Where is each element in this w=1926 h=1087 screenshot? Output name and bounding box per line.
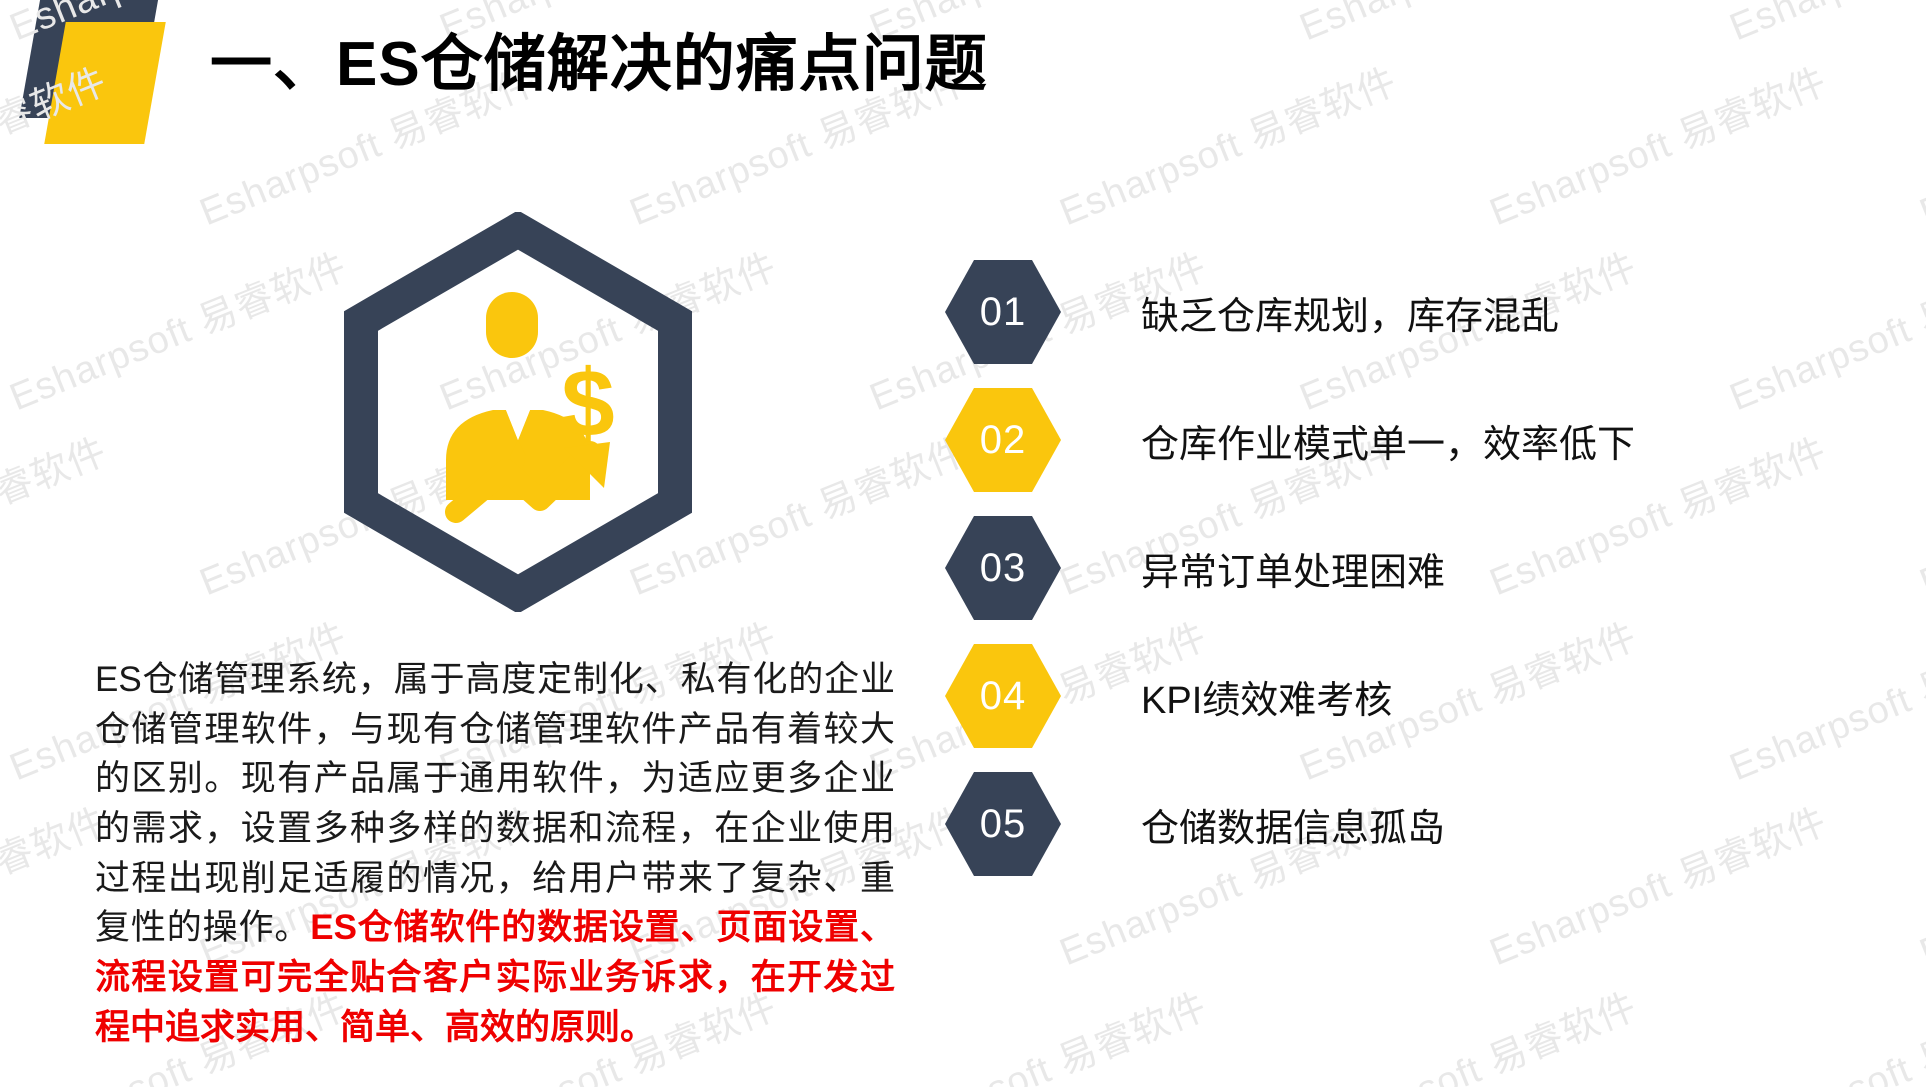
painpoint-label-04: KPI绩效难考核 xyxy=(1141,669,1392,724)
painpoint-hexagon-01: 01 xyxy=(945,260,1061,364)
painpoint-hexagon-04: 04 xyxy=(945,644,1061,748)
emblem-hexagon-icon: $ xyxy=(318,212,718,612)
person-head-icon xyxy=(486,292,538,358)
painpoint-label-01: 缺乏仓库规划，库存混乱 xyxy=(1141,285,1559,340)
watermark-text: Esharpsoft 易睿软件 xyxy=(1910,790,1926,976)
watermark-text: Esharpsoft 易睿软件 xyxy=(0,420,114,606)
watermark-text: Esharpsoft 易睿软件 xyxy=(860,975,1214,1087)
watermark-text: Esharpsoft 易睿软件 xyxy=(1480,50,1834,236)
businessman-dollar-growth-icon: $ xyxy=(318,212,718,612)
painpoint-hexagon-03: 03 xyxy=(945,516,1061,620)
page-title: 一、ES仓储解决的痛点问题 xyxy=(210,32,988,97)
watermark-text: Esharpsoft 易睿软件 xyxy=(1290,975,1644,1087)
painpoint-item-01[interactable]: 01 缺乏仓库规划，库存混乱 xyxy=(945,260,1845,364)
painpoint-hexagon-05: 05 xyxy=(945,772,1061,876)
yellow-parallelogram-decoration xyxy=(44,22,166,144)
intro-plain-text: ES仓储管理系统，属于高度定制化、私有化的企业仓储管理软件，与现有仓储管理软件产… xyxy=(95,660,895,947)
painpoint-number-04: 04 xyxy=(980,674,1027,719)
painpoint-number-02: 02 xyxy=(980,418,1027,463)
painpoint-number-05: 05 xyxy=(980,802,1027,847)
painpoint-list: 01 缺乏仓库规划，库存混乱 02 仓库作业模式单一，效率低下 03 异常订单处… xyxy=(945,260,1845,900)
intro-paragraph: ES仓储管理系统，属于高度定制化、私有化的企业仓储管理软件，与现有仓储管理软件产… xyxy=(95,655,895,1053)
watermark-text: Esharpsoft 易睿软件 xyxy=(1910,420,1926,606)
painpoint-number-03: 03 xyxy=(980,546,1027,591)
dollar-sign-icon: $ xyxy=(561,350,614,457)
painpoint-label-02: 仓库作业模式单一，效率低下 xyxy=(1141,413,1635,468)
watermark-text: Esharpsoft 易睿软件 xyxy=(1290,0,1644,51)
watermark-text: Esharpsoft 易睿软件 xyxy=(1050,50,1404,236)
watermark-text: Esharpsoft 易睿软件 xyxy=(0,235,354,421)
painpoint-item-02[interactable]: 02 仓库作业模式单一，效率低下 xyxy=(945,388,1845,492)
painpoint-item-04[interactable]: 04 KPI绩效难考核 xyxy=(945,644,1845,748)
watermark-text: Esharpsoft 易睿软件 xyxy=(1720,0,1926,51)
painpoint-hexagon-02: 02 xyxy=(945,388,1061,492)
watermark-text: Esharpsoft 易睿软件 xyxy=(1910,50,1926,236)
painpoint-item-05[interactable]: 05 仓储数据信息孤岛 xyxy=(945,772,1845,876)
watermark-text: Esharpsoft 易睿软件 xyxy=(1720,975,1926,1087)
painpoint-number-01: 01 xyxy=(980,290,1027,335)
slide-canvas: 一、ES仓储解决的痛点问题 $ ES仓储管理系统，属于高度定制化、私有化的企业仓… xyxy=(0,0,1926,1087)
painpoint-item-03[interactable]: 03 异常订单处理困难 xyxy=(945,516,1845,620)
painpoint-label-03: 异常订单处理困难 xyxy=(1141,541,1445,596)
painpoint-label-05: 仓储数据信息孤岛 xyxy=(1141,797,1445,852)
